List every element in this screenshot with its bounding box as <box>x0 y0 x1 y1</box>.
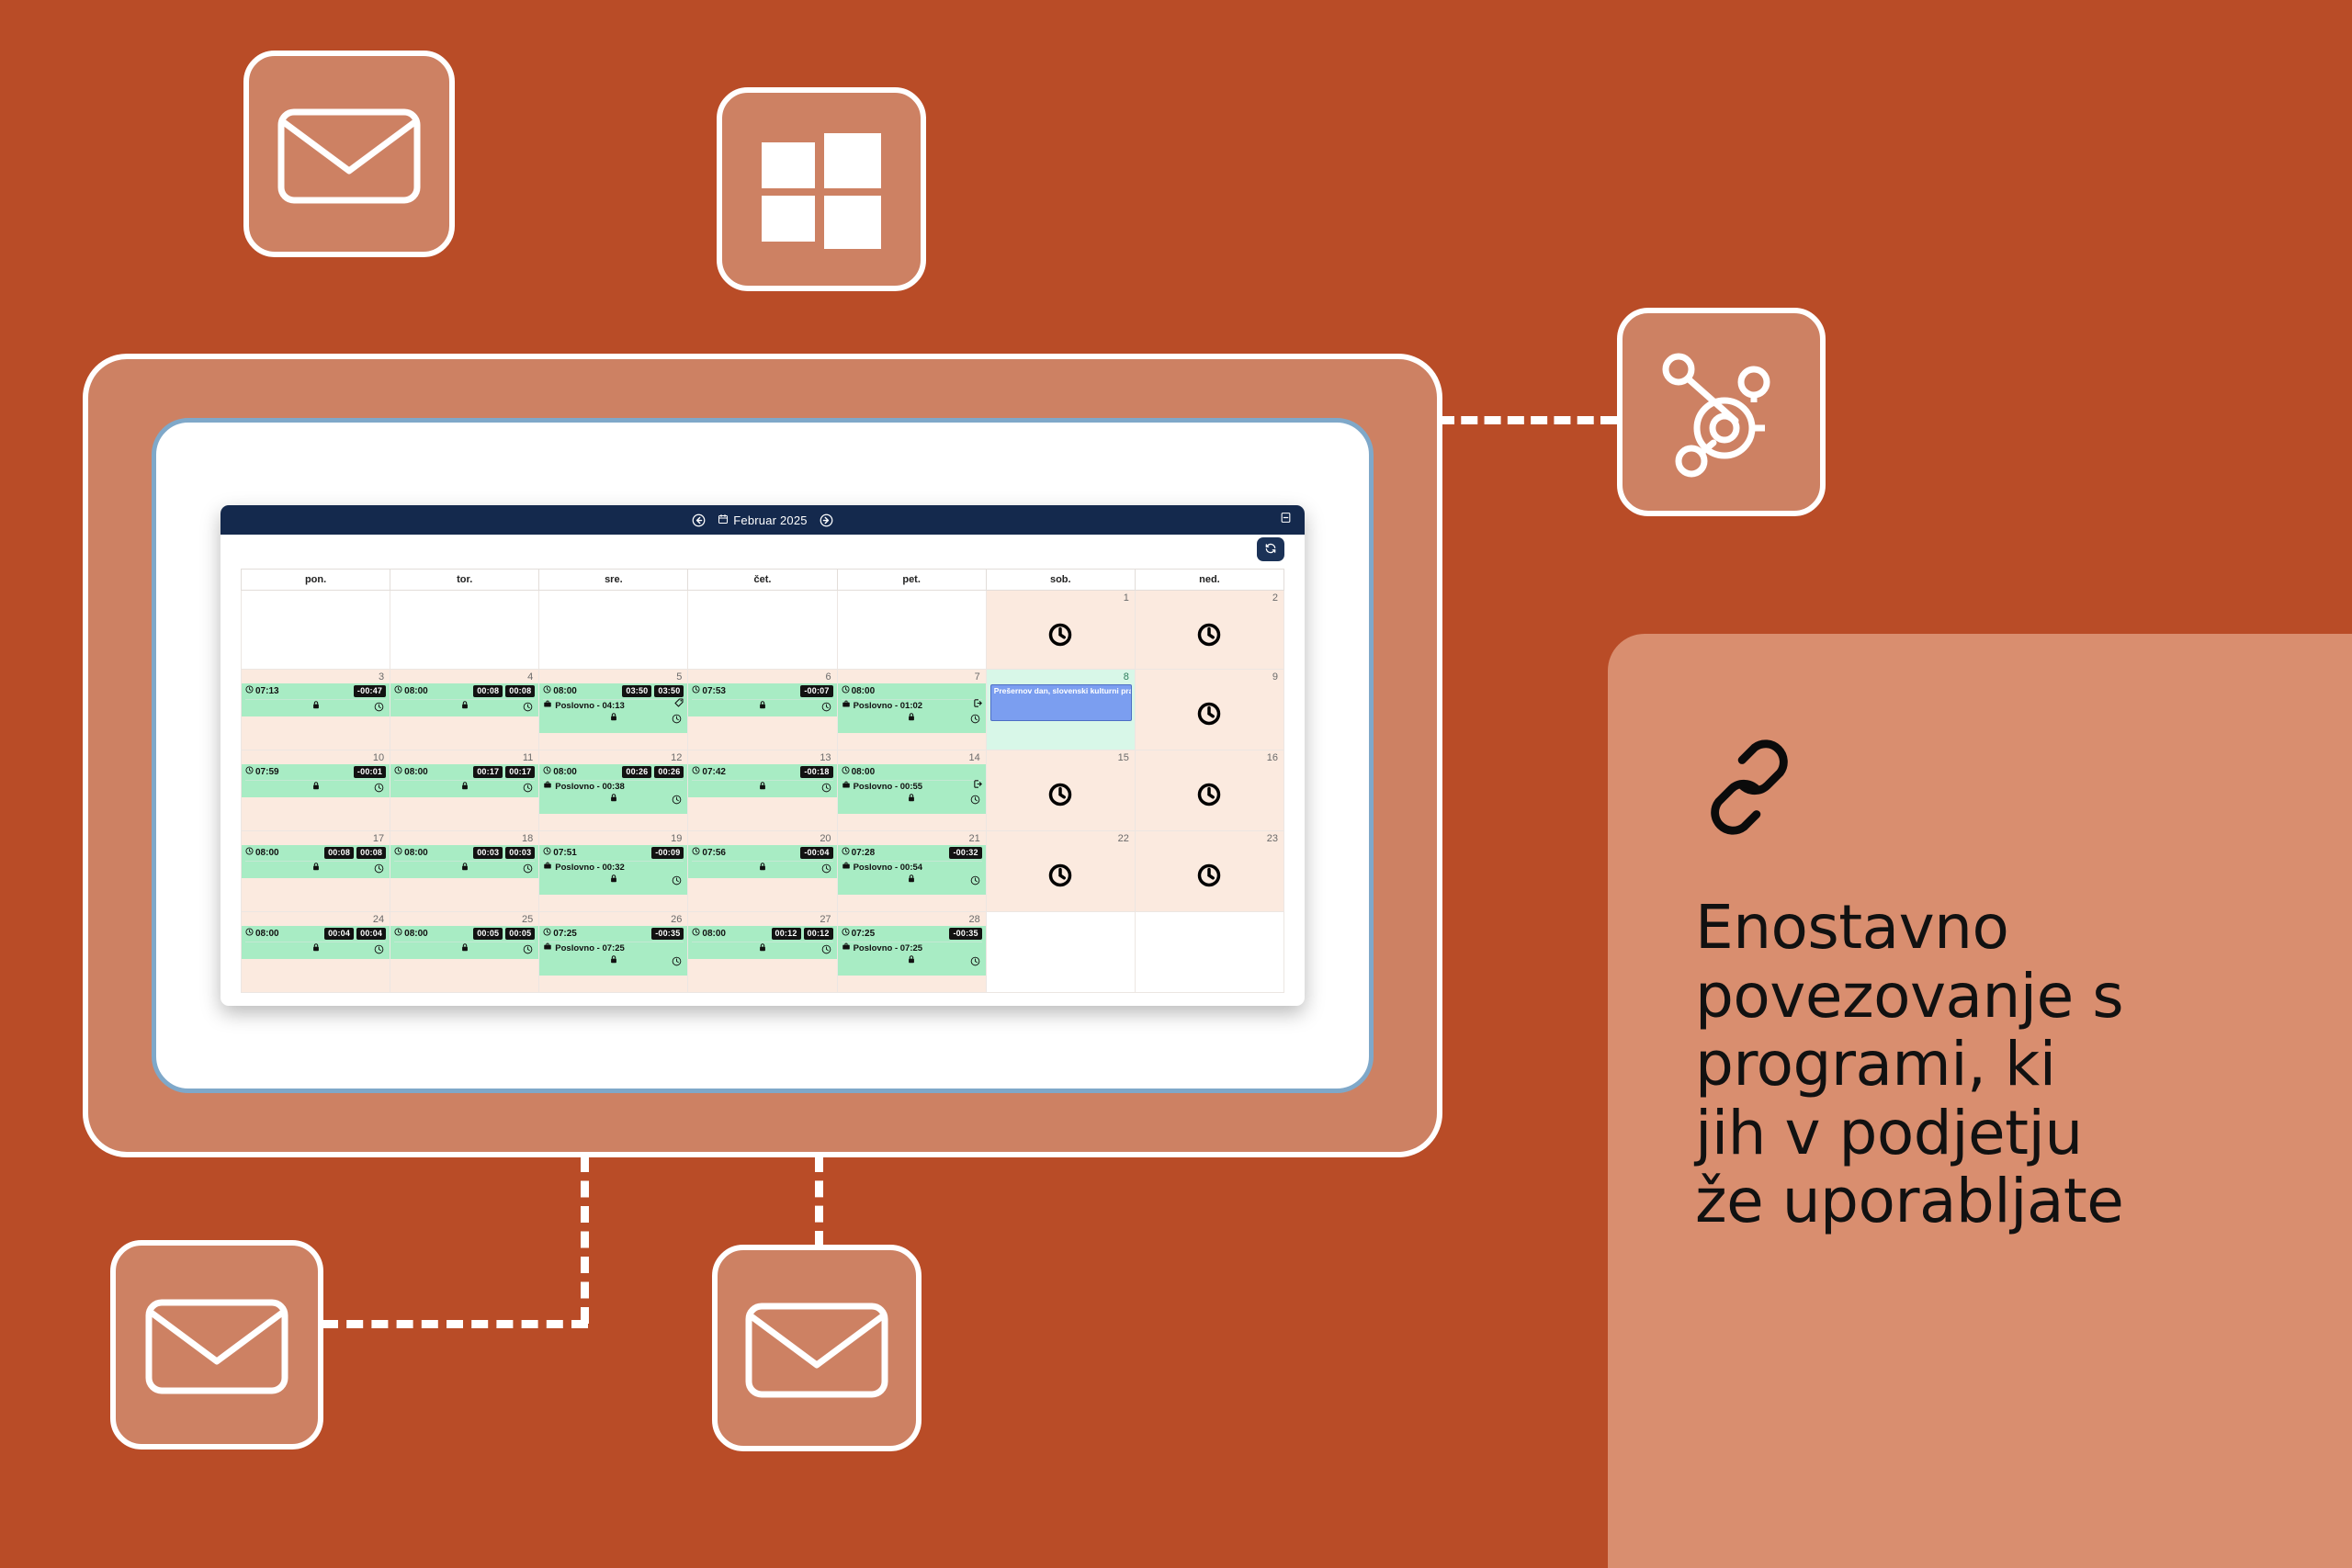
clock-icon[interactable] <box>672 954 682 971</box>
lock-icon[interactable] <box>758 860 767 876</box>
calendar-day-cell-13[interactable]: 1307:42-00:18 <box>688 750 837 830</box>
holiday-event[interactable]: Prešernov dan, slovenski kulturni prazni… <box>990 684 1132 721</box>
entry-footer <box>692 700 832 713</box>
calendar-day-cell-empty[interactable] <box>242 591 390 670</box>
entry-footer <box>842 712 982 725</box>
day-number: 2 <box>1272 592 1278 604</box>
entry-badge: -00:47 <box>354 685 386 696</box>
entry-badge: -00:01 <box>354 766 386 777</box>
mail-tile-bottom-left[interactable] <box>110 1240 323 1450</box>
briefcase-icon <box>842 781 851 792</box>
day-number: 13 <box>820 752 831 763</box>
entry-badge: 00:03 <box>505 847 535 858</box>
day-header-et: čet. <box>688 570 837 591</box>
work-entry[interactable]: 08:0000:1700:17 <box>390 764 538 797</box>
minimize-window-icon[interactable] <box>1280 512 1292 528</box>
entry-time-text: 07:25 <box>852 929 876 939</box>
entry-badges: -00:32 <box>949 847 981 858</box>
lock-icon[interactable] <box>758 779 767 795</box>
calendar-day-cell-empty[interactable] <box>539 591 688 670</box>
work-entry[interactable]: 07:25-00:35Poslovno - 07:25 <box>539 926 687 976</box>
entry-start-time: 07:28 <box>842 847 876 858</box>
entry-time-text: 08:00 <box>553 767 577 777</box>
app-titlebar: Februar 2025 <box>220 505 1305 535</box>
calendar-day-cell-5[interactable]: 508:0003:5003:50Poslovno - 04:13 <box>539 669 688 750</box>
feature-text-line: programi, ki <box>1695 1031 2352 1100</box>
entry-badge: 00:04 <box>356 928 386 939</box>
lock-icon[interactable] <box>311 860 321 876</box>
clock-icon[interactable] <box>523 781 533 797</box>
arrow-right-circle-icon[interactable] <box>820 513 833 527</box>
lock-icon[interactable] <box>609 791 618 807</box>
calendar-day-cell-9[interactable]: 9 <box>1135 669 1283 750</box>
calendar-week-row: 2408:0000:0400:042508:0000:0500:052607:2… <box>242 911 1284 992</box>
day-number: 6 <box>825 671 831 682</box>
windows-icon <box>760 130 884 249</box>
work-entry[interactable]: 07:56-00:04 <box>688 845 836 878</box>
entry-badge: 00:08 <box>324 847 354 858</box>
work-entry[interactable]: 07:28-00:32Poslovno - 00:54 <box>838 845 986 895</box>
entry-footer <box>394 862 535 874</box>
entry-footer <box>543 954 684 967</box>
entry-badges: 00:0800:08 <box>473 685 535 696</box>
day-number: 18 <box>522 833 533 844</box>
entry-time-text: 07:28 <box>852 848 876 858</box>
hubspot-tile[interactable] <box>1617 308 1826 516</box>
calendar-day-cell-19[interactable]: 1907:51-00:09Poslovno - 00:32 <box>539 830 688 911</box>
clock-icon[interactable] <box>374 942 384 959</box>
calendar-day-cell-11[interactable]: 1108:0000:1700:17 <box>390 750 539 830</box>
entry-footer <box>245 781 386 794</box>
entry-badge: -00:09 <box>651 847 684 858</box>
refresh-icon <box>1264 542 1277 558</box>
entry-badges: -00:04 <box>800 847 832 858</box>
calendar-day-cell-22[interactable]: 22 <box>986 830 1135 911</box>
entry-time-text: 08:00 <box>702 929 726 939</box>
clock-icon[interactable] <box>523 700 533 716</box>
calendar-day-cell-18[interactable]: 1808:0000:0300:03 <box>390 830 539 911</box>
day-number: 16 <box>1267 752 1278 763</box>
entry-footer <box>245 862 386 874</box>
entry-footer <box>692 942 832 955</box>
entry-badge: 00:08 <box>356 847 386 858</box>
briefcase-icon <box>842 942 851 953</box>
clock-icon <box>394 685 402 696</box>
clock-icon <box>245 928 254 939</box>
clock-icon[interactable] <box>374 781 384 797</box>
mail-tile-top-left[interactable] <box>243 51 455 257</box>
month-calendar: pon.tor.sre.čet.pet.sob.ned. 12307:13-00… <box>241 569 1284 993</box>
entry-start-time: 07:42 <box>692 766 726 777</box>
entry-badge: 00:26 <box>654 766 684 777</box>
day-number: 27 <box>820 914 831 925</box>
sign-out-icon[interactable] <box>973 777 983 794</box>
windows-tile[interactable] <box>717 87 926 291</box>
entry-time-text: 08:00 <box>404 929 428 939</box>
entry-footer <box>842 874 982 886</box>
day-header-sob: sob. <box>986 570 1135 591</box>
entry-badge: 00:12 <box>804 928 833 939</box>
entry-time-text: 08:00 <box>852 686 876 696</box>
work-entry[interactable]: 07:53-00:07 <box>688 683 836 716</box>
day-number: 12 <box>671 752 682 763</box>
work-entry[interactable]: 07:51-00:09Poslovno - 00:32 <box>539 845 687 895</box>
clock-icon <box>692 847 700 858</box>
entry-start-time: 08:00 <box>543 685 577 696</box>
entry-start-time: 08:00 <box>245 847 279 858</box>
tablet-screen: Februar 2025 p <box>152 418 1374 1093</box>
day-header-tor: tor. <box>390 570 539 591</box>
entry-time-text: 08:00 <box>852 767 876 777</box>
lock-icon[interactable] <box>907 791 916 807</box>
entry-footer <box>842 793 982 806</box>
calendar-day-cell-empty[interactable] <box>1135 911 1283 992</box>
entry-start-time: 07:56 <box>692 847 726 858</box>
clock-icon <box>842 766 850 777</box>
entry-badge: 00:12 <box>772 928 801 939</box>
entry-badge: 00:03 <box>473 847 503 858</box>
entry-badge: 03:50 <box>654 685 684 696</box>
calendar-day-cell-8[interactable]: 8Prešernov dan, slovenski kulturni prazn… <box>986 669 1135 750</box>
calendar-week-row: 1007:59-00:011108:0000:1700:171208:0000:… <box>242 750 1284 830</box>
day-header-ned: ned. <box>1135 570 1283 591</box>
day-number: 19 <box>671 833 682 844</box>
month-label-group[interactable]: Februar 2025 <box>718 513 807 527</box>
work-entry[interactable]: 08:0000:0500:05 <box>390 926 538 959</box>
briefcase-icon <box>543 942 552 953</box>
clock-icon <box>245 766 254 777</box>
work-entry[interactable]: 07:13-00:47 <box>242 683 390 716</box>
clock-icon <box>543 766 551 777</box>
calendar-day-cell-20[interactable]: 2007:56-00:04 <box>688 830 837 911</box>
calendar-day-cell-1[interactable]: 1 <box>986 591 1135 670</box>
tag-icon[interactable] <box>673 696 684 713</box>
calendar-week-row: 307:13-00:47408:0000:0800:08508:0003:500… <box>242 669 1284 750</box>
calendar-day-cell-27[interactable]: 2708:0000:1200:12 <box>688 911 837 992</box>
work-entry[interactable]: 07:42-00:18 <box>688 764 836 797</box>
clock-icon <box>543 685 551 696</box>
clock-icon[interactable] <box>672 712 682 728</box>
lock-icon[interactable] <box>460 698 469 715</box>
clock-icon[interactable] <box>1196 863 1222 893</box>
entry-badge: -00:18 <box>800 766 832 777</box>
clock-icon[interactable] <box>1196 701 1222 731</box>
calendar-day-cell-empty[interactable] <box>986 911 1135 992</box>
feature-text-line: že uporabljate <box>1695 1168 2352 1236</box>
clock-icon[interactable] <box>1196 782 1222 812</box>
entry-footer <box>842 954 982 967</box>
clock-icon[interactable] <box>821 862 831 878</box>
entry-badge: -00:32 <box>949 847 981 858</box>
clock-icon <box>692 928 700 939</box>
clock-icon[interactable] <box>970 712 980 728</box>
entry-badge: 00:04 <box>324 928 354 939</box>
feature-panel: Enostavnopovezovanje sprogrami, kijih v … <box>1608 634 2352 1568</box>
entry-start-time: 08:00 <box>842 685 876 696</box>
entry-badge: -00:35 <box>949 928 981 939</box>
day-number: 3 <box>379 671 384 682</box>
entry-footer <box>394 781 535 794</box>
entry-badges: -00:47 <box>354 685 386 696</box>
work-entry[interactable]: 08:0003:5003:50Poslovno - 04:13 <box>539 683 687 733</box>
work-entry[interactable]: 08:0000:0800:08 <box>242 845 390 878</box>
work-entry[interactable]: 07:59-00:01 <box>242 764 390 797</box>
link-chain-icon <box>1695 733 2352 846</box>
calendar-day-cell-25[interactable]: 2508:0000:0500:05 <box>390 911 539 992</box>
calendar-day-cell-7[interactable]: 708:00Poslovno - 01:02 <box>837 669 986 750</box>
briefcase-icon <box>842 862 851 873</box>
envelope-icon <box>143 1290 290 1400</box>
day-number: 10 <box>373 752 384 763</box>
day-header-pon: pon. <box>242 570 390 591</box>
day-number: 23 <box>1267 833 1278 844</box>
day-number: 7 <box>975 671 980 682</box>
sign-out-icon[interactable] <box>973 696 983 713</box>
entry-badge: 00:17 <box>473 766 503 777</box>
day-number: 11 <box>523 752 533 763</box>
entry-start-time: 07:25 <box>543 928 577 939</box>
day-number: 5 <box>676 671 682 682</box>
lock-icon[interactable] <box>907 872 916 888</box>
lock-icon[interactable] <box>758 941 767 957</box>
feature-text-line: povezovanje s <box>1695 963 2352 1032</box>
clock-icon[interactable] <box>374 700 384 716</box>
connector-mail-bottom-left-stem <box>581 1156 589 1324</box>
entry-start-time: 07:25 <box>842 928 876 939</box>
day-number: 14 <box>968 752 979 763</box>
tablet-frame: Februar 2025 p <box>83 354 1442 1157</box>
entry-footer <box>543 874 684 886</box>
entry-start-time: 08:00 <box>394 928 428 939</box>
feature-text-line: Enostavno <box>1695 894 2352 963</box>
entry-badges: -00:01 <box>354 766 386 777</box>
calendar-day-cell-14[interactable]: 1408:00Poslovno - 00:55 <box>837 750 986 830</box>
entry-badge: 00:08 <box>505 685 535 696</box>
entry-time-text: 07:59 <box>255 767 279 777</box>
connector-hubspot <box>1438 416 1617 424</box>
entry-badges: 00:0300:03 <box>473 847 535 858</box>
entry-time-text: 07:56 <box>702 848 726 858</box>
entry-footer <box>543 793 684 806</box>
connector-mail-bottom-left-run <box>322 1320 588 1328</box>
entry-badge: -00:35 <box>651 928 684 939</box>
clock-icon[interactable] <box>1047 863 1073 893</box>
clock-icon[interactable] <box>672 793 682 809</box>
entry-badges: 00:0400:04 <box>324 928 386 939</box>
calendar-header-row: pon.tor.sre.čet.pet.sob.ned. <box>242 570 1284 591</box>
calendar-day-cell-2[interactable]: 2 <box>1135 591 1283 670</box>
entry-badges: 00:1700:17 <box>473 766 535 777</box>
clock-icon[interactable] <box>374 862 384 878</box>
day-number: 8 <box>1124 671 1129 682</box>
clock-icon <box>692 685 700 696</box>
calendar-day-cell-3[interactable]: 307:13-00:47 <box>242 669 390 750</box>
briefcase-icon <box>842 700 851 711</box>
clock-icon[interactable] <box>821 700 831 716</box>
calendar-icon <box>718 513 729 527</box>
calendar-day-cell-16[interactable]: 16 <box>1135 750 1283 830</box>
day-number: 22 <box>1118 833 1129 844</box>
calendar-day-cell-10[interactable]: 1007:59-00:01 <box>242 750 390 830</box>
entry-time-text: 08:00 <box>553 686 577 696</box>
entry-badges: 03:5003:50 <box>622 685 684 696</box>
lock-icon[interactable] <box>609 953 618 969</box>
clock-icon <box>245 847 254 858</box>
clock-icon <box>394 928 402 939</box>
mail-tile-bottom-center[interactable] <box>712 1245 922 1451</box>
entry-badges: 00:1200:12 <box>772 928 833 939</box>
day-number: 9 <box>1272 671 1278 682</box>
entry-start-time: 08:00 <box>692 928 726 939</box>
work-entry[interactable]: 08:0000:0300:03 <box>390 845 538 878</box>
entry-badge: 03:50 <box>622 685 651 696</box>
work-entry[interactable]: 08:0000:1200:12 <box>688 926 836 959</box>
entry-time-text: 07:51 <box>553 848 577 858</box>
entry-start-time: 08:00 <box>394 847 428 858</box>
clock-icon[interactable] <box>523 862 533 878</box>
entry-badges: 00:2600:26 <box>622 766 684 777</box>
clock-icon <box>245 685 254 696</box>
lock-icon[interactable] <box>907 953 916 969</box>
work-entry[interactable]: 08:00Poslovno - 00:55 <box>838 764 986 814</box>
entry-badge: 00:08 <box>473 685 503 696</box>
lock-icon[interactable] <box>609 872 618 888</box>
calendar-day-cell-empty[interactable] <box>837 591 986 670</box>
entry-start-time: 07:51 <box>543 847 577 858</box>
arrow-left-circle-icon[interactable] <box>692 513 706 527</box>
entry-badge: 00:17 <box>505 766 535 777</box>
lock-icon[interactable] <box>311 941 321 957</box>
clock-icon[interactable] <box>970 954 980 971</box>
feature-text-line: jih v podjetju <box>1695 1100 2352 1168</box>
day-number: 26 <box>671 914 682 925</box>
entry-badge: 00:05 <box>505 928 535 939</box>
entry-badges: -00:09 <box>651 847 684 858</box>
clock-icon[interactable] <box>672 874 682 890</box>
lock-icon[interactable] <box>311 779 321 795</box>
lock-icon[interactable] <box>758 698 767 715</box>
clock-icon[interactable] <box>1047 622 1073 652</box>
day-header-sre: sre. <box>539 570 688 591</box>
calendar-day-cell-24[interactable]: 2408:0000:0400:04 <box>242 911 390 992</box>
work-entry[interactable]: 07:25-00:35Poslovno - 07:25 <box>838 926 986 976</box>
feature-text: Enostavnopovezovanje sprogrami, kijih v … <box>1695 894 2352 1236</box>
entry-badges: -00:35 <box>651 928 684 939</box>
entry-footer <box>245 700 386 713</box>
entry-start-time: 08:00 <box>842 766 876 777</box>
clock-icon <box>842 928 850 939</box>
day-number: 17 <box>373 833 384 844</box>
entry-time-text: 08:00 <box>255 848 279 858</box>
entry-time-text: 07:42 <box>702 767 726 777</box>
envelope-icon <box>743 1293 890 1404</box>
calendar-container: pon.tor.sre.čet.pet.sob.ned. 12307:13-00… <box>220 569 1305 1006</box>
clock-icon[interactable] <box>821 781 831 797</box>
entry-footer <box>245 942 386 955</box>
clock-icon <box>842 685 850 696</box>
day-number: 1 <box>1124 592 1129 604</box>
day-number: 20 <box>820 833 831 844</box>
entry-badges: -00:35 <box>949 928 981 939</box>
lock-icon[interactable] <box>460 941 469 957</box>
entry-time-text: 07:13 <box>255 686 279 696</box>
clock-icon[interactable] <box>821 942 831 959</box>
current-month-label: Februar 2025 <box>733 513 807 527</box>
lock-icon[interactable] <box>460 860 469 876</box>
calendar-day-cell-26[interactable]: 2607:25-00:35Poslovno - 07:25 <box>539 911 688 992</box>
calendar-week-row: 12 <box>242 591 1284 670</box>
entry-time-text: 07:25 <box>553 929 577 939</box>
entry-badges: 00:0500:05 <box>473 928 535 939</box>
entry-start-time: 08:00 <box>543 766 577 777</box>
clock-icon[interactable] <box>523 942 533 959</box>
calendar-day-cell-17[interactable]: 1708:0000:0800:08 <box>242 830 390 911</box>
calendar-app-window: Februar 2025 p <box>220 505 1305 1006</box>
entry-start-time: 07:13 <box>245 685 279 696</box>
entry-footer <box>394 700 535 713</box>
clock-icon[interactable] <box>1047 782 1073 812</box>
entry-badges: 00:0800:08 <box>324 847 386 858</box>
refresh-button[interactable] <box>1257 537 1284 561</box>
entry-badge: 00:05 <box>473 928 503 939</box>
entry-badges: -00:07 <box>800 685 832 696</box>
lock-icon[interactable] <box>311 698 321 715</box>
entry-time-text: 08:00 <box>404 686 428 696</box>
day-number: 24 <box>373 914 384 925</box>
clock-icon[interactable] <box>970 793 980 809</box>
day-number: 28 <box>968 914 979 925</box>
day-header-pet: pet. <box>837 570 986 591</box>
clock-icon[interactable] <box>1196 622 1222 652</box>
entry-time-text: 08:00 <box>255 929 279 939</box>
entry-start-time: 08:00 <box>394 685 428 696</box>
calendar-day-cell-23[interactable]: 23 <box>1135 830 1283 911</box>
entry-start-time: 07:59 <box>245 766 279 777</box>
day-number: 15 <box>1118 752 1129 763</box>
work-entry[interactable]: 08:00Poslovno - 01:02 <box>838 683 986 733</box>
calendar-day-cell-4[interactable]: 408:0000:0800:08 <box>390 669 539 750</box>
clock-icon <box>543 847 551 858</box>
entry-time-text: 08:00 <box>404 848 428 858</box>
calendar-week-row: 1708:0000:0800:081808:0000:0300:031907:5… <box>242 830 1284 911</box>
lock-icon[interactable] <box>609 710 618 727</box>
briefcase-icon <box>543 862 552 873</box>
entry-badges: -00:18 <box>800 766 832 777</box>
entry-footer <box>394 942 535 955</box>
calendar-day-cell-21[interactable]: 2107:28-00:32Poslovno - 00:54 <box>837 830 986 911</box>
entry-footer <box>543 712 684 725</box>
calendar-day-cell-empty[interactable] <box>688 591 837 670</box>
clock-icon[interactable] <box>970 874 980 890</box>
calendar-day-cell-empty[interactable] <box>390 591 539 670</box>
entry-start-time: 07:53 <box>692 685 726 696</box>
lock-icon[interactable] <box>907 710 916 727</box>
entry-time-text: 08:00 <box>404 767 428 777</box>
app-toolbar <box>220 535 1305 569</box>
clock-icon <box>394 847 402 858</box>
hubspot-icon <box>1653 344 1791 481</box>
calendar-day-cell-28[interactable]: 2807:25-00:35Poslovno - 07:25 <box>837 911 986 992</box>
entry-footer <box>692 862 832 874</box>
calendar-day-cell-12[interactable]: 1208:0000:2600:26Poslovno - 00:38 <box>539 750 688 830</box>
calendar-day-cell-6[interactable]: 607:53-00:07 <box>688 669 837 750</box>
work-entry[interactable]: 08:0000:0800:08 <box>390 683 538 716</box>
work-entry[interactable]: 08:0000:0400:04 <box>242 926 390 959</box>
work-entry[interactable]: 08:0000:2600:26Poslovno - 00:38 <box>539 764 687 814</box>
calendar-day-cell-15[interactable]: 15 <box>986 750 1135 830</box>
lock-icon[interactable] <box>460 779 469 795</box>
connector-mail-bottom-center <box>815 1156 823 1247</box>
